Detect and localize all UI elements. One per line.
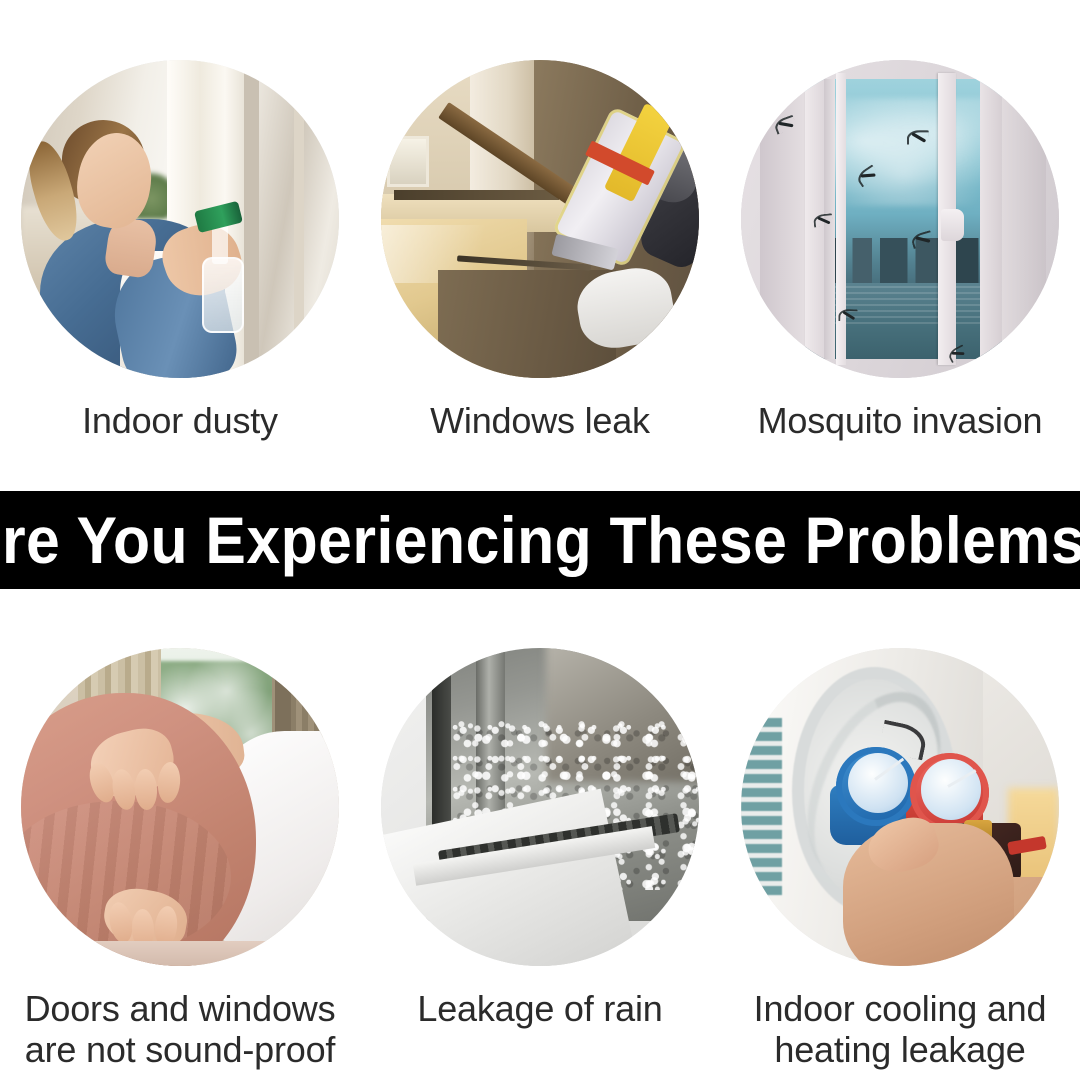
- scene-graphic: [21, 60, 339, 378]
- pillow-over-head-noise-photo: [21, 648, 339, 966]
- scene-graphic: [741, 648, 1059, 966]
- hvac-manifold-gauges-photo: [741, 648, 1059, 966]
- problem-card-sound-proof: Doors and windows are not sound-proof: [0, 589, 360, 1080]
- poster-board: Indoor dusty Windows leak: [0, 0, 1080, 1080]
- photo-wrap: [360, 589, 720, 966]
- window-condensation-droplets-photo: [381, 648, 699, 966]
- headline-banner: Are You Experiencing These Problems?: [0, 491, 1080, 589]
- top-photo-row: Indoor dusty Windows leak: [0, 0, 1080, 491]
- photo-wrap: [0, 0, 360, 378]
- problem-card-mosquito-invasion: Mosquito invasion: [720, 0, 1080, 491]
- photo-wrap: [0, 589, 360, 966]
- open-window-mosquitoes-photo: [741, 60, 1059, 378]
- photo-wrap: [720, 589, 1080, 966]
- problem-card-windows-leak: Windows leak: [360, 0, 720, 491]
- woman-spraying-window-photo: [21, 60, 339, 378]
- problem-card-cooling-heating-leakage: Indoor cooling and heating leakage: [720, 589, 1080, 1080]
- caption-sound-proof: Doors and windows are not sound-proof: [0, 988, 360, 1070]
- photo-wrap: [360, 0, 720, 378]
- scene-graphic: [741, 60, 1059, 378]
- scene-graphic: [381, 60, 699, 378]
- problem-card-indoor-dusty: Indoor dusty: [0, 0, 360, 491]
- mosquito-icon: [908, 230, 936, 247]
- photo-wrap: [720, 0, 1080, 378]
- caulking-gun-window-sill-photo: [381, 60, 699, 378]
- caption-indoor-dusty: Indoor dusty: [0, 400, 360, 441]
- caption-cooling-heating-leakage: Indoor cooling and heating leakage: [720, 988, 1080, 1070]
- caption-leakage-of-rain: Leakage of rain: [360, 988, 720, 1029]
- mosquito-icon: [811, 212, 837, 228]
- caption-mosquito-invasion: Mosquito invasion: [720, 400, 1080, 441]
- caption-windows-leak: Windows leak: [360, 400, 720, 441]
- bottom-photo-row: Doors and windows are not sound-proof Le…: [0, 589, 1080, 1080]
- scene-graphic: [21, 648, 339, 966]
- scene-graphic: [381, 648, 699, 966]
- problem-card-leakage-of-rain: Leakage of rain: [360, 589, 720, 1080]
- headline-text: Are You Experiencing These Problems?: [0, 507, 1080, 573]
